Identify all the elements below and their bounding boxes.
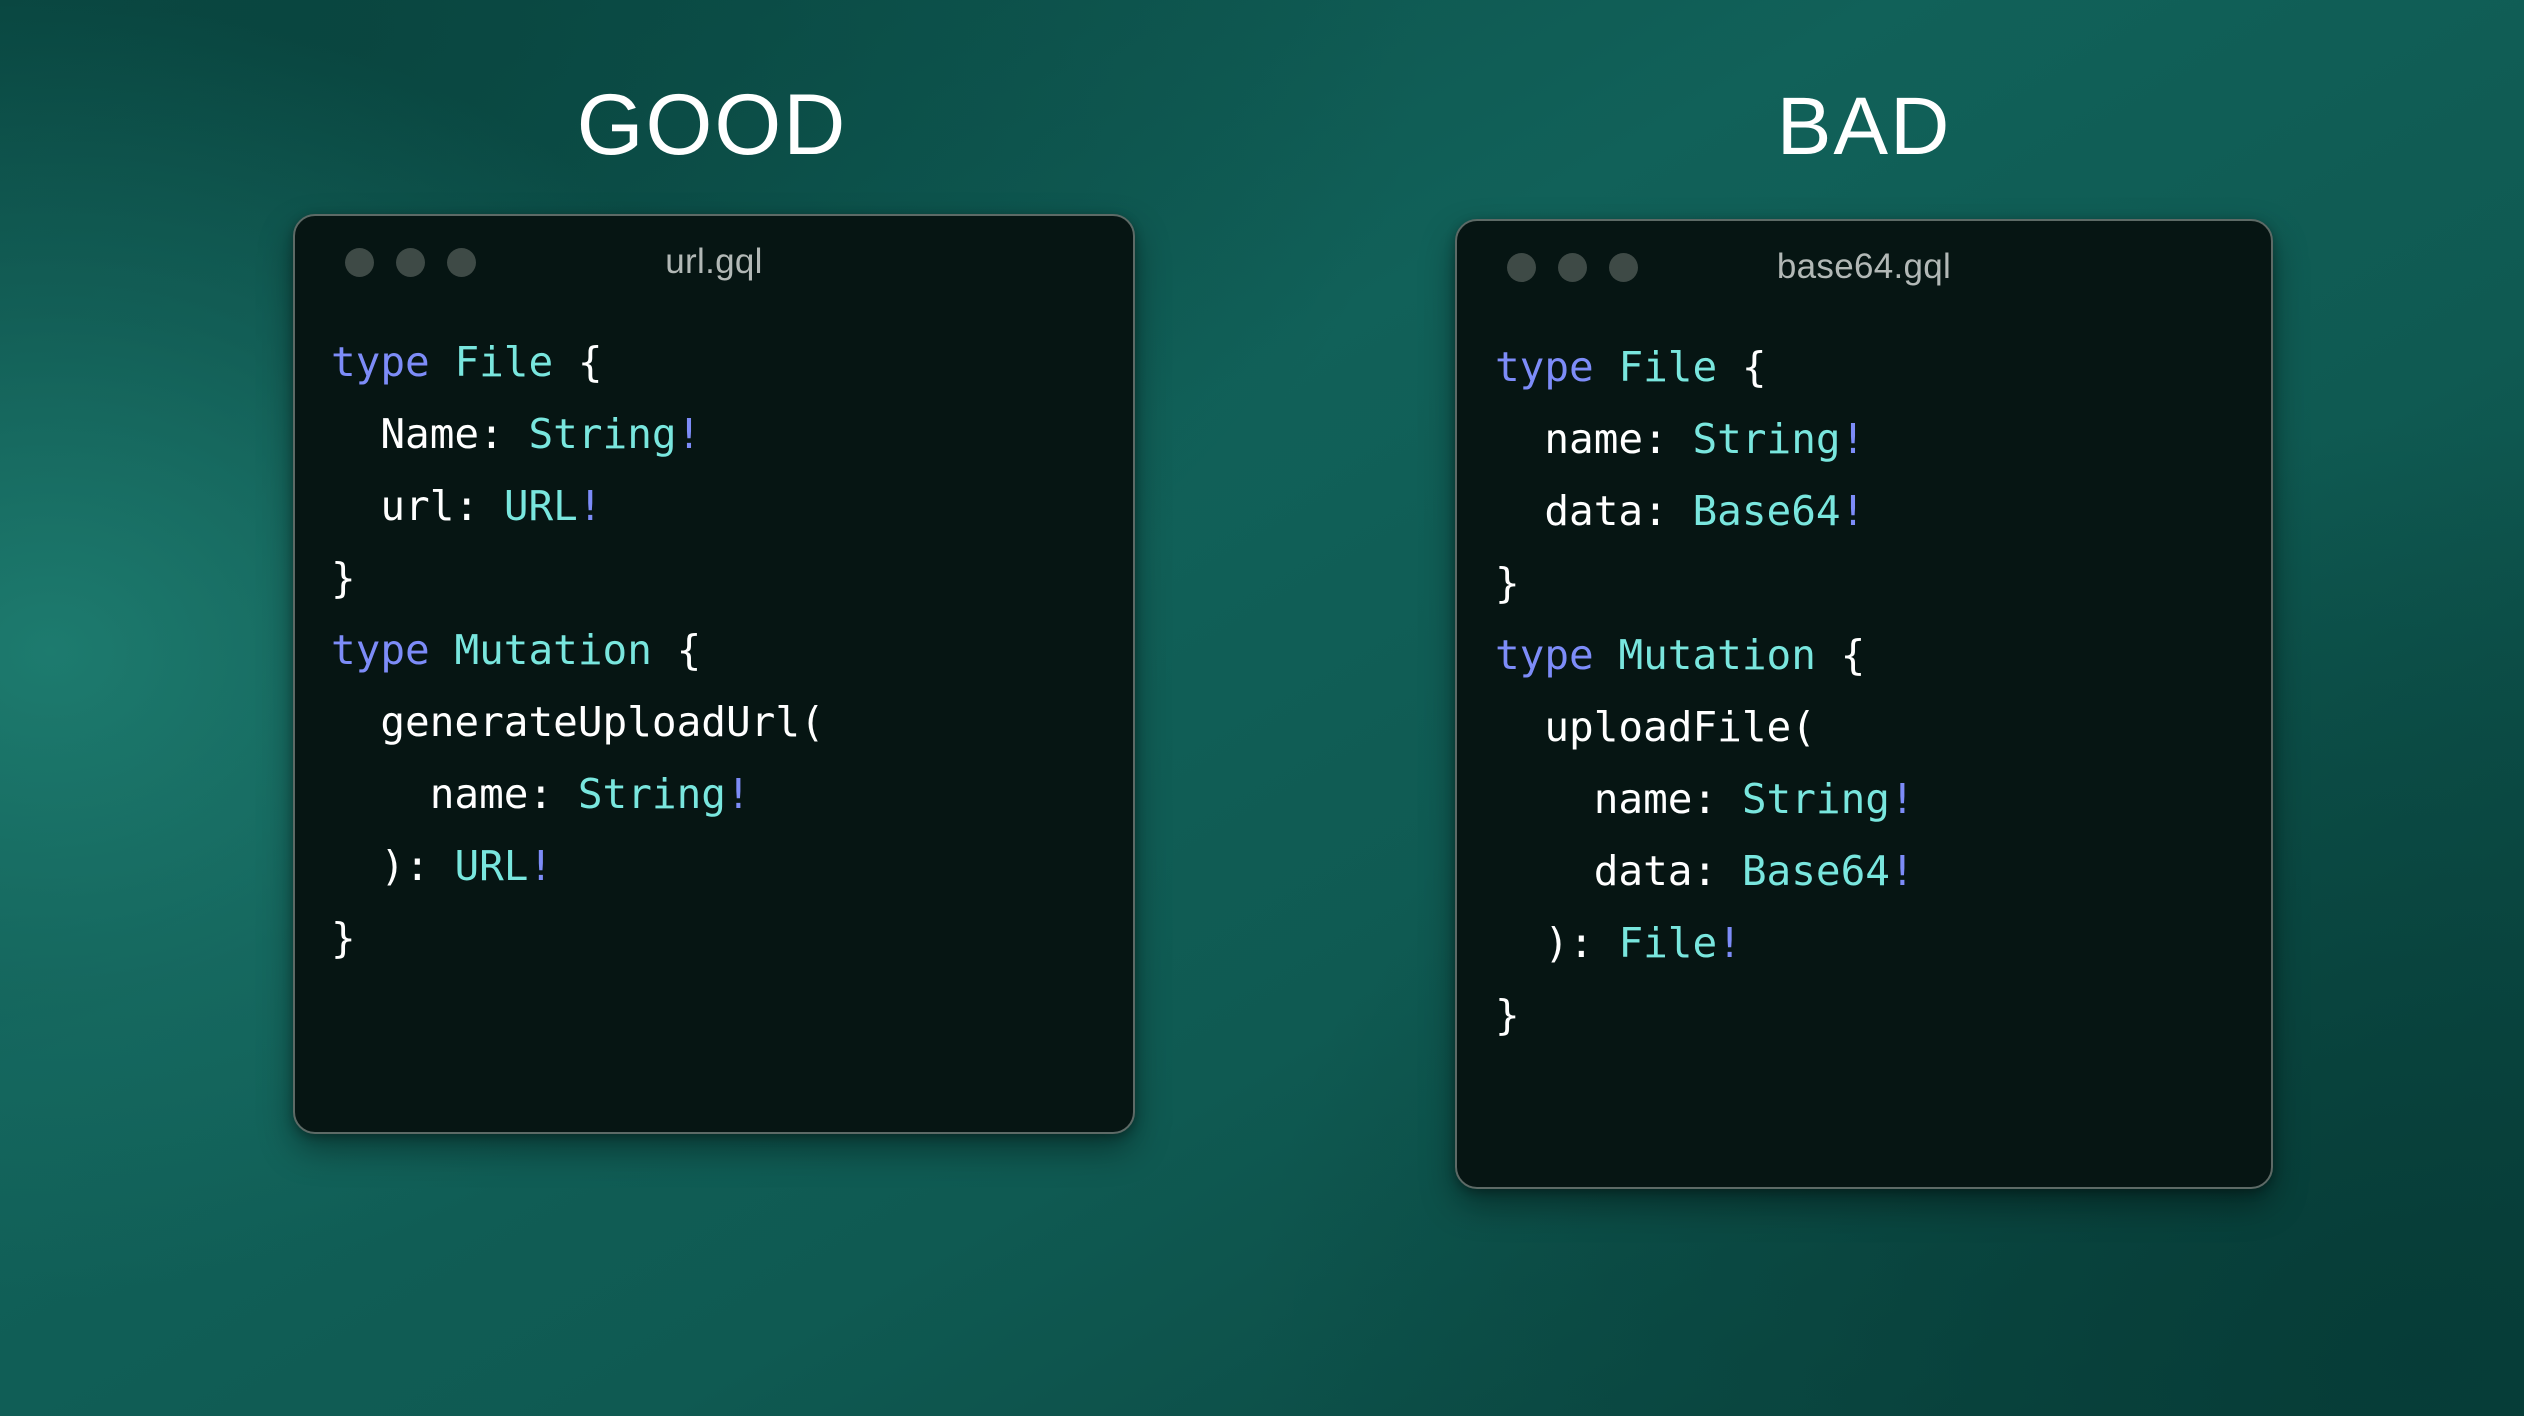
- code-line: Name: String!: [331, 398, 1133, 470]
- code-token-bang: !: [529, 842, 554, 890]
- code-token-plain: [1717, 343, 1742, 391]
- code-line: generateUploadUrl(: [331, 686, 1133, 758]
- maximize-dot-icon[interactable]: [447, 248, 476, 277]
- close-dot-icon[interactable]: [345, 248, 374, 277]
- code-line: data: Base64!: [1495, 835, 2271, 907]
- code-token-field: generateUploadUrl(: [380, 698, 824, 746]
- close-dot-icon[interactable]: [1507, 253, 1536, 282]
- code-token-type: File: [1618, 919, 1717, 967]
- code-token-bang: !: [578, 482, 603, 530]
- code-token-punctuation: }: [1495, 559, 1520, 607]
- code-token-plain: [1816, 631, 1841, 679]
- code-token-field: Name:: [380, 410, 503, 458]
- code-token-punctuation: ):: [380, 842, 429, 890]
- code-token-bang: !: [726, 770, 751, 818]
- code-token-bang: !: [1890, 775, 1915, 823]
- code-token-plain: [1594, 343, 1619, 391]
- code-token-field: data:: [1544, 487, 1667, 535]
- code-token-punctuation: {: [578, 338, 603, 386]
- code-token-plain: [1668, 487, 1693, 535]
- code-token-plain: [1594, 631, 1619, 679]
- code-token-keyword: type: [331, 626, 430, 674]
- panel-heading-good: GOOD: [0, 82, 1424, 168]
- code-token-plain: [1495, 415, 1544, 463]
- code-window-bad: base64.gql type File { name: String! dat…: [1455, 219, 2273, 1189]
- panel-heading-bad: BAD: [1456, 86, 2272, 168]
- code-line: }: [331, 542, 1133, 614]
- code-line: uploadFile(: [1495, 691, 2271, 763]
- code-token-plain: [1495, 919, 1544, 967]
- code-token-type: File: [1618, 343, 1717, 391]
- code-token-plain: [1594, 919, 1619, 967]
- code-token-type: Base64: [1742, 847, 1890, 895]
- code-window-good: url.gql type File { Name: String! url: U…: [293, 214, 1135, 1134]
- code-token-type: Base64: [1692, 487, 1840, 535]
- code-token-plain: [331, 482, 380, 530]
- code-token-bang: !: [1890, 847, 1915, 895]
- code-token-plain: [504, 410, 529, 458]
- code-token-field: url:: [380, 482, 479, 530]
- code-token-keyword: type: [1495, 343, 1594, 391]
- minimize-dot-icon[interactable]: [396, 248, 425, 277]
- code-block-bad[interactable]: type File { name: String! data: Base64!}…: [1457, 313, 2271, 1051]
- code-token-type: Mutation: [454, 626, 651, 674]
- code-token-punctuation: }: [331, 914, 356, 962]
- code-line: name: String!: [331, 758, 1133, 830]
- window-titlebar-good: url.gql: [295, 216, 1133, 308]
- code-line: type Mutation {: [331, 614, 1133, 686]
- code-line: ): URL!: [331, 830, 1133, 902]
- code-token-type: URL: [504, 482, 578, 530]
- code-token-bang: !: [1841, 487, 1866, 535]
- code-token-punctuation: {: [1841, 631, 1866, 679]
- code-token-bang: !: [677, 410, 702, 458]
- code-token-plain: [331, 770, 430, 818]
- code-block-good[interactable]: type File { Name: String! url: URL!}type…: [295, 308, 1133, 974]
- code-token-plain: [553, 338, 578, 386]
- code-token-punctuation: {: [1742, 343, 1767, 391]
- code-token-type: String: [1742, 775, 1890, 823]
- slide-canvas: GOOD BAD url.gql type File { Name: Strin…: [0, 0, 2524, 1416]
- code-line: name: String!: [1495, 403, 2271, 475]
- minimize-dot-icon[interactable]: [1558, 253, 1587, 282]
- code-token-plain: [479, 482, 504, 530]
- code-token-plain: [652, 626, 677, 674]
- code-token-keyword: type: [331, 338, 430, 386]
- code-token-plain: [1495, 775, 1594, 823]
- code-token-bang: !: [1717, 919, 1742, 967]
- code-line: }: [1495, 979, 2271, 1051]
- code-token-plain: [1668, 415, 1693, 463]
- code-line: ): File!: [1495, 907, 2271, 979]
- code-token-plain: [1717, 847, 1742, 895]
- code-token-plain: [331, 698, 380, 746]
- code-line: }: [331, 902, 1133, 974]
- code-line: name: String!: [1495, 763, 2271, 835]
- code-token-keyword: type: [1495, 631, 1594, 679]
- code-line: type File {: [1495, 331, 2271, 403]
- window-titlebar-bad: base64.gql: [1457, 221, 2271, 313]
- code-token-plain: [1717, 775, 1742, 823]
- code-line: data: Base64!: [1495, 475, 2271, 547]
- code-line: type File {: [331, 326, 1133, 398]
- code-token-type: String: [1692, 415, 1840, 463]
- code-token-type: String: [528, 410, 676, 458]
- code-token-field: data:: [1594, 847, 1717, 895]
- code-token-plain: [430, 842, 455, 890]
- code-token-field: name:: [1594, 775, 1717, 823]
- code-token-punctuation: }: [1495, 991, 1520, 1039]
- code-line: url: URL!: [331, 470, 1133, 542]
- code-token-plain: [331, 842, 380, 890]
- code-token-bang: !: [1841, 415, 1866, 463]
- code-token-plain: [331, 410, 380, 458]
- window-traffic-lights-bad: [1507, 253, 1638, 282]
- code-token-plain: [1495, 847, 1594, 895]
- code-token-type: String: [578, 770, 726, 818]
- code-token-type: Mutation: [1618, 631, 1815, 679]
- code-token-punctuation: {: [677, 626, 702, 674]
- code-line: }: [1495, 547, 2271, 619]
- code-token-type: URL: [454, 842, 528, 890]
- code-token-field: name:: [430, 770, 553, 818]
- code-token-punctuation: }: [331, 554, 356, 602]
- code-token-plain: [1495, 703, 1544, 751]
- code-token-field: uploadFile(: [1544, 703, 1816, 751]
- code-token-plain: [1495, 487, 1544, 535]
- code-token-plain: [553, 770, 578, 818]
- code-token-field: name:: [1544, 415, 1667, 463]
- code-token-type: File: [454, 338, 553, 386]
- code-token-punctuation: ):: [1544, 919, 1593, 967]
- code-line: type Mutation {: [1495, 619, 2271, 691]
- window-traffic-lights-good: [345, 248, 476, 277]
- code-token-plain: [430, 626, 455, 674]
- maximize-dot-icon[interactable]: [1609, 253, 1638, 282]
- code-token-plain: [430, 338, 455, 386]
